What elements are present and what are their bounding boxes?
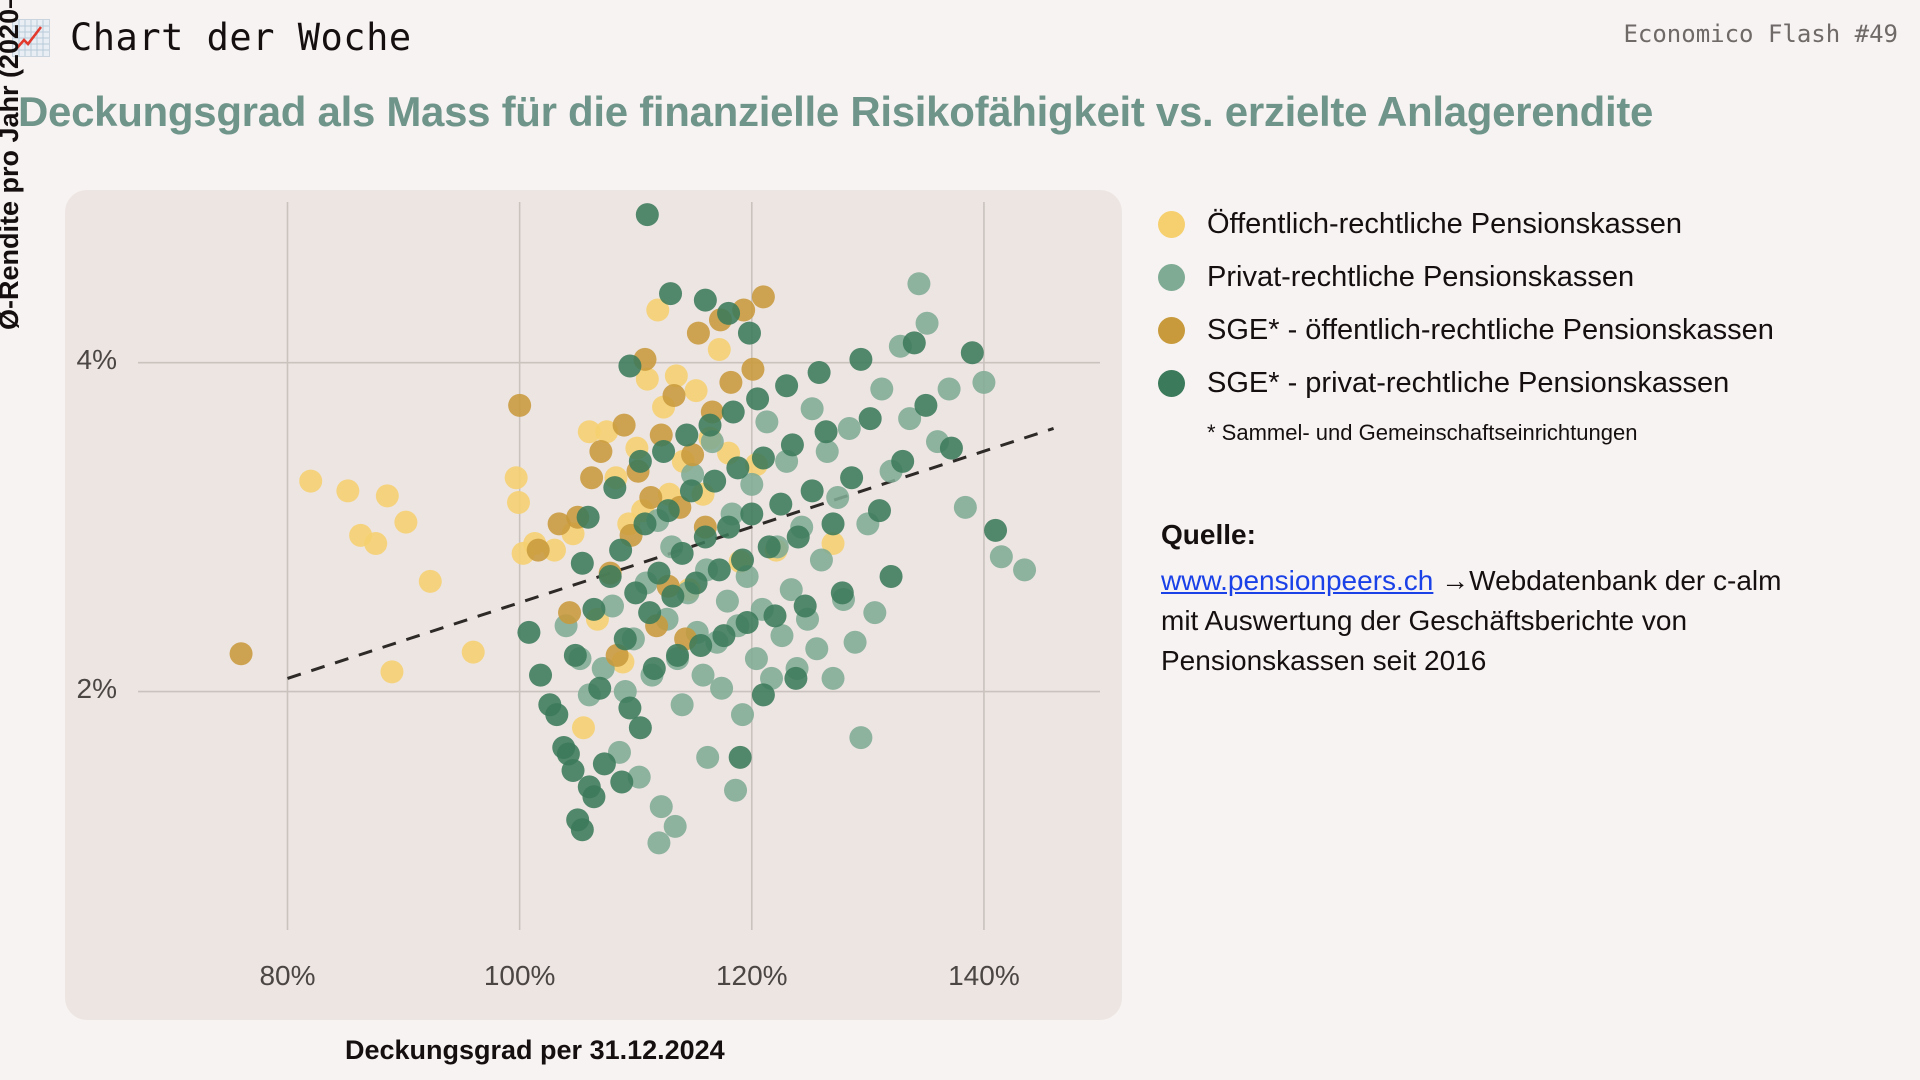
data-point bbox=[663, 384, 686, 407]
data-point bbox=[940, 437, 963, 460]
data-point bbox=[769, 493, 792, 516]
source-line2: mit Auswertung der Geschäftsberichte von bbox=[1161, 605, 1687, 636]
data-point bbox=[610, 771, 633, 794]
data-point bbox=[805, 637, 828, 660]
x-tick-label: 120% bbox=[672, 960, 832, 992]
data-point bbox=[815, 420, 838, 443]
source-text: www.pensionpeers.ch →Webdatenbank der c-… bbox=[1161, 561, 1901, 680]
data-point bbox=[299, 470, 322, 493]
data-point bbox=[816, 440, 839, 463]
data-point bbox=[863, 601, 886, 624]
data-point bbox=[712, 624, 735, 647]
data-point bbox=[685, 379, 708, 402]
y-tick-label: 2% bbox=[0, 673, 117, 705]
data-point bbox=[781, 433, 804, 456]
data-point bbox=[588, 677, 611, 700]
data-point bbox=[724, 779, 747, 802]
data-point bbox=[638, 601, 661, 624]
legend-swatch-private bbox=[1158, 264, 1185, 291]
data-point bbox=[954, 496, 977, 519]
data-point bbox=[870, 377, 893, 400]
data-point bbox=[394, 511, 417, 534]
data-point bbox=[746, 387, 769, 410]
data-point bbox=[582, 598, 605, 621]
data-point bbox=[722, 401, 745, 424]
x-tick-label: 140% bbox=[904, 960, 1064, 992]
data-point bbox=[784, 667, 807, 690]
data-point bbox=[703, 470, 726, 493]
data-point bbox=[603, 476, 626, 499]
data-point bbox=[731, 703, 754, 726]
data-point bbox=[689, 634, 712, 657]
data-point bbox=[717, 516, 740, 539]
data-point bbox=[508, 394, 531, 417]
data-point bbox=[775, 374, 798, 397]
data-point bbox=[736, 611, 759, 634]
data-point bbox=[731, 549, 754, 572]
data-point bbox=[545, 703, 568, 726]
data-point bbox=[859, 407, 882, 430]
data-point bbox=[849, 726, 872, 749]
header: Chart der Woche bbox=[12, 16, 412, 59]
source-line1-rest: →Webdatenbank der c-alm bbox=[1433, 565, 1781, 596]
data-point bbox=[740, 502, 763, 525]
legend-swatch-sge_public bbox=[1158, 317, 1185, 344]
legend-label: Öffentlich-rechtliche Pensionskassen bbox=[1207, 208, 1682, 241]
data-point bbox=[609, 539, 632, 562]
data-point bbox=[681, 443, 704, 466]
data-point bbox=[938, 377, 961, 400]
data-point bbox=[990, 545, 1013, 568]
data-point bbox=[380, 660, 403, 683]
data-point bbox=[618, 354, 641, 377]
data-point bbox=[582, 785, 605, 808]
page-title: Chart der Woche bbox=[70, 16, 412, 59]
data-point bbox=[661, 585, 684, 608]
data-point bbox=[868, 499, 891, 522]
data-point bbox=[364, 532, 387, 555]
source-line3: Pensionskassen seit 2016 bbox=[1161, 645, 1486, 676]
data-point bbox=[636, 203, 659, 226]
data-point bbox=[564, 644, 587, 667]
x-tick-label: 100% bbox=[440, 960, 600, 992]
data-point bbox=[618, 697, 641, 720]
data-point bbox=[719, 371, 742, 394]
source-heading: Quelle: bbox=[1161, 519, 1901, 551]
data-point bbox=[831, 581, 854, 604]
data-point bbox=[665, 364, 688, 387]
data-point bbox=[571, 552, 594, 575]
data-point bbox=[801, 397, 824, 420]
legend-footnote: * Sammel- und Gemeinschaftseinrichtungen bbox=[1207, 420, 1774, 446]
data-point bbox=[613, 414, 636, 437]
data-point bbox=[752, 683, 775, 706]
data-point bbox=[907, 272, 930, 295]
legend-swatch-sge_private bbox=[1158, 370, 1185, 397]
data-point bbox=[580, 466, 603, 489]
data-point bbox=[801, 479, 824, 502]
source-block: Quelle: www.pensionpeers.ch →Webdatenban… bbox=[1161, 519, 1901, 680]
data-point bbox=[599, 565, 622, 588]
data-point bbox=[657, 499, 680, 522]
data-point bbox=[745, 647, 768, 670]
flash-id: Economico Flash #49 bbox=[1623, 20, 1898, 48]
subtitle: Deckungsgrad als Mass für die finanziell… bbox=[18, 88, 1653, 136]
data-point bbox=[764, 604, 787, 627]
data-point bbox=[643, 657, 666, 680]
data-point bbox=[675, 424, 698, 447]
data-point bbox=[708, 558, 731, 581]
data-point bbox=[822, 667, 845, 690]
data-point bbox=[694, 525, 717, 548]
legend: Öffentlich-rechtliche PensionskassenPriv… bbox=[1158, 208, 1774, 446]
x-axis-label: Deckungsgrad per 31.12.2024 bbox=[345, 1035, 725, 1066]
data-point bbox=[794, 595, 817, 618]
data-point bbox=[758, 535, 781, 558]
data-point bbox=[880, 565, 903, 588]
data-point bbox=[505, 466, 528, 489]
data-point bbox=[810, 549, 833, 572]
data-point bbox=[696, 746, 719, 769]
data-point bbox=[624, 581, 647, 604]
slide-canvas: Chart der Woche Economico Flash #49 Deck… bbox=[0, 0, 1920, 1080]
legend-label: SGE* - öffentlich-rechtliche Pensionskas… bbox=[1207, 314, 1774, 347]
y-tick-label: 4% bbox=[0, 344, 117, 376]
data-point bbox=[629, 450, 652, 473]
data-point bbox=[527, 539, 550, 562]
data-point bbox=[726, 456, 749, 479]
data-point bbox=[230, 642, 253, 665]
data-point bbox=[558, 601, 581, 624]
data-point bbox=[741, 358, 764, 381]
data-point bbox=[961, 341, 984, 364]
data-point bbox=[1013, 558, 1036, 581]
data-point bbox=[916, 312, 939, 335]
data-point bbox=[729, 746, 752, 769]
data-point bbox=[755, 410, 778, 433]
x-tick-label: 80% bbox=[208, 960, 368, 992]
data-point bbox=[687, 322, 710, 345]
data-point bbox=[903, 331, 926, 354]
data-point bbox=[822, 512, 845, 535]
data-point bbox=[671, 542, 694, 565]
data-point bbox=[838, 417, 861, 440]
data-point bbox=[680, 479, 703, 502]
data-point bbox=[972, 371, 995, 394]
data-point bbox=[634, 512, 657, 535]
data-point bbox=[694, 289, 717, 312]
data-point bbox=[562, 759, 585, 782]
data-point bbox=[708, 338, 731, 361]
legend-swatch-public bbox=[1158, 211, 1185, 238]
data-point bbox=[529, 664, 552, 687]
legend-item-private[interactable]: Privat-rechtliche Pensionskassen bbox=[1158, 261, 1774, 294]
source-link[interactable]: www.pensionpeers.ch bbox=[1161, 565, 1433, 596]
data-point bbox=[840, 466, 863, 489]
data-point bbox=[571, 818, 594, 841]
data-point bbox=[710, 677, 733, 700]
data-point bbox=[419, 570, 442, 593]
data-point bbox=[849, 348, 872, 371]
chart-panel: 2%4%80%100%120%140% bbox=[65, 190, 1122, 1020]
legend-item-sge_public[interactable]: SGE* - öffentlich-rechtliche Pensionskas… bbox=[1158, 314, 1774, 347]
data-point bbox=[647, 831, 670, 854]
legend-label: Privat-rechtliche Pensionskassen bbox=[1207, 261, 1634, 294]
data-point bbox=[462, 641, 485, 664]
data-point bbox=[647, 562, 670, 585]
data-point bbox=[699, 414, 722, 437]
data-point bbox=[716, 590, 739, 613]
data-point bbox=[826, 486, 849, 509]
data-point bbox=[652, 440, 675, 463]
data-point bbox=[572, 716, 595, 739]
data-point bbox=[787, 525, 810, 548]
data-point bbox=[614, 627, 637, 650]
data-point bbox=[664, 815, 687, 838]
data-point bbox=[914, 394, 937, 417]
data-point bbox=[717, 302, 740, 325]
data-point bbox=[650, 795, 673, 818]
data-point bbox=[336, 479, 359, 502]
data-point bbox=[692, 664, 715, 687]
data-point bbox=[738, 322, 761, 345]
data-point bbox=[666, 644, 689, 667]
legend-item-sge_private[interactable]: SGE* - privat-rechtliche Pensionskassen bbox=[1158, 367, 1774, 400]
data-point bbox=[752, 447, 775, 470]
data-point bbox=[685, 572, 708, 595]
data-point bbox=[376, 484, 399, 507]
data-point bbox=[984, 519, 1007, 542]
data-point bbox=[629, 716, 652, 739]
data-point bbox=[593, 752, 616, 775]
scatter-plot bbox=[65, 190, 1122, 1020]
data-point bbox=[752, 285, 775, 308]
data-point bbox=[671, 693, 694, 716]
scatter-svg bbox=[65, 190, 1122, 1020]
data-point bbox=[577, 506, 600, 529]
data-point bbox=[659, 282, 682, 305]
data-point bbox=[589, 440, 612, 463]
data-point bbox=[770, 624, 793, 647]
legend-item-public[interactable]: Öffentlich-rechtliche Pensionskassen bbox=[1158, 208, 1774, 241]
data-point bbox=[517, 621, 540, 644]
data-point bbox=[844, 631, 867, 654]
data-point bbox=[808, 361, 831, 384]
legend-label: SGE* - privat-rechtliche Pensionskassen bbox=[1207, 367, 1729, 400]
data-point bbox=[507, 491, 530, 514]
y-axis-label: Ø-Rendite pro Jahr (2020–2024) bbox=[0, 0, 25, 330]
data-point bbox=[891, 450, 914, 473]
